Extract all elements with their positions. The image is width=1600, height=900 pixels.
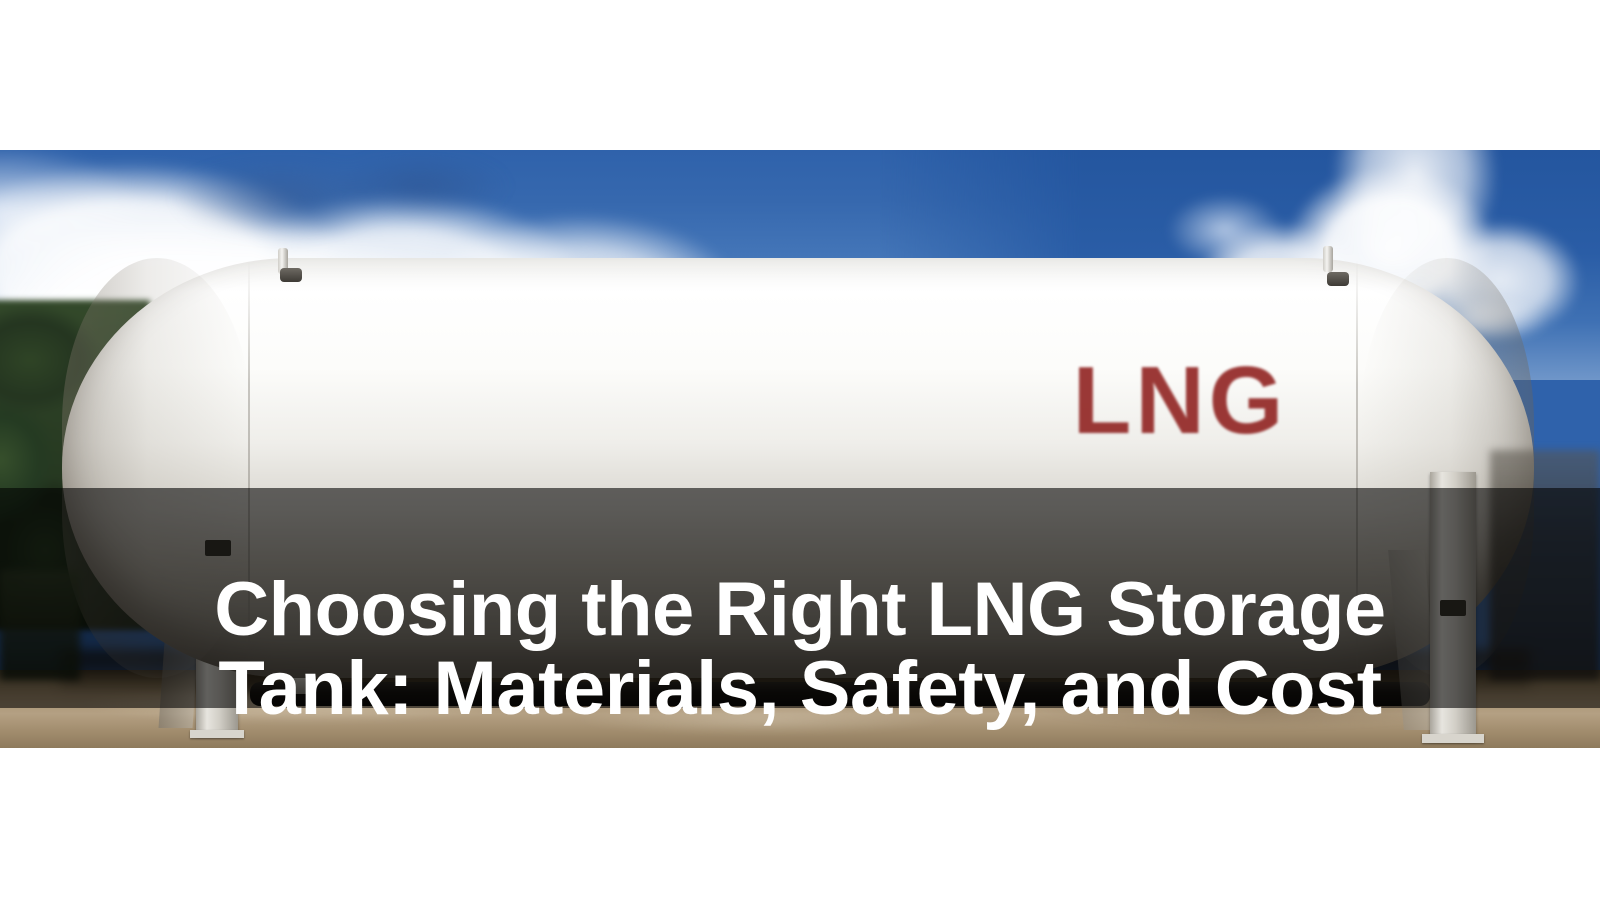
tank-marking-lng: LNG: [1050, 346, 1310, 466]
page-root: LNG Choosing the Right LNG Storage Tank:…: [0, 0, 1600, 900]
hero-banner: LNG Choosing the Right LNG Storage Tank:…: [0, 150, 1600, 748]
lifting-lug-icon-right: [1323, 246, 1333, 272]
cloud-left-shadow-icon: [120, 150, 550, 260]
lifting-lug-cap-left: [280, 268, 302, 282]
page-title: Choosing the Right LNG Storage Tank: Mat…: [0, 539, 1600, 748]
lifting-lug-cap-right: [1327, 272, 1349, 286]
